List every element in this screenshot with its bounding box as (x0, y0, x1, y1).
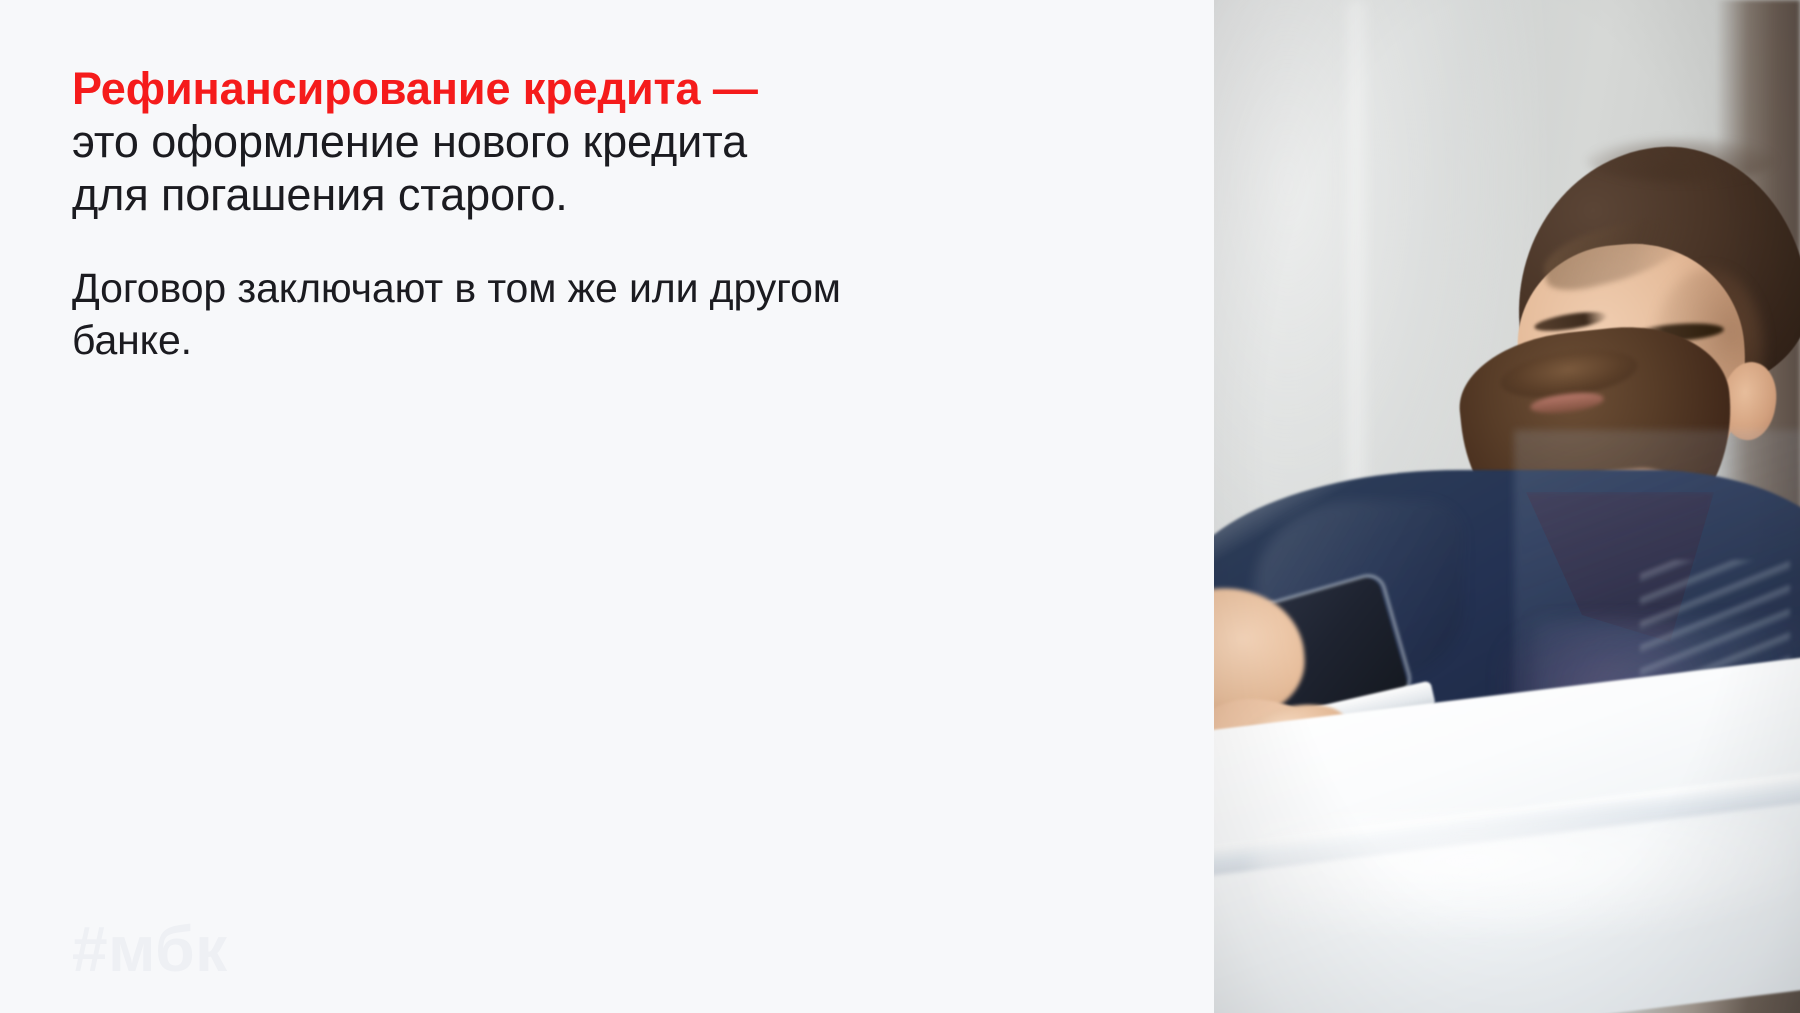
slide-root: Рефинансирование кредита — это оформлени… (0, 0, 1800, 1013)
hair-wisps (1586, 138, 1776, 182)
photo-pane (1214, 0, 1800, 1013)
page-title: Рефинансирование кредита — это оформлени… (72, 62, 1072, 221)
brand-watermark: #мбк (72, 917, 228, 981)
headline-line-2: это оформление нового кредита (72, 115, 1072, 168)
subcopy-line-1: Договор заключают в том же или другом (72, 263, 952, 315)
headline-accent-line: Рефинансирование кредита — (72, 62, 1072, 115)
subcopy-paragraph: Договор заключают в том же или другом ба… (72, 221, 952, 366)
counter-highlight (1254, 813, 1794, 933)
text-pane: Рефинансирование кредита — это оформлени… (0, 0, 1214, 1013)
headline-line-3: для погашения старого. (72, 168, 1072, 221)
subcopy-line-2: банке. (72, 315, 952, 367)
